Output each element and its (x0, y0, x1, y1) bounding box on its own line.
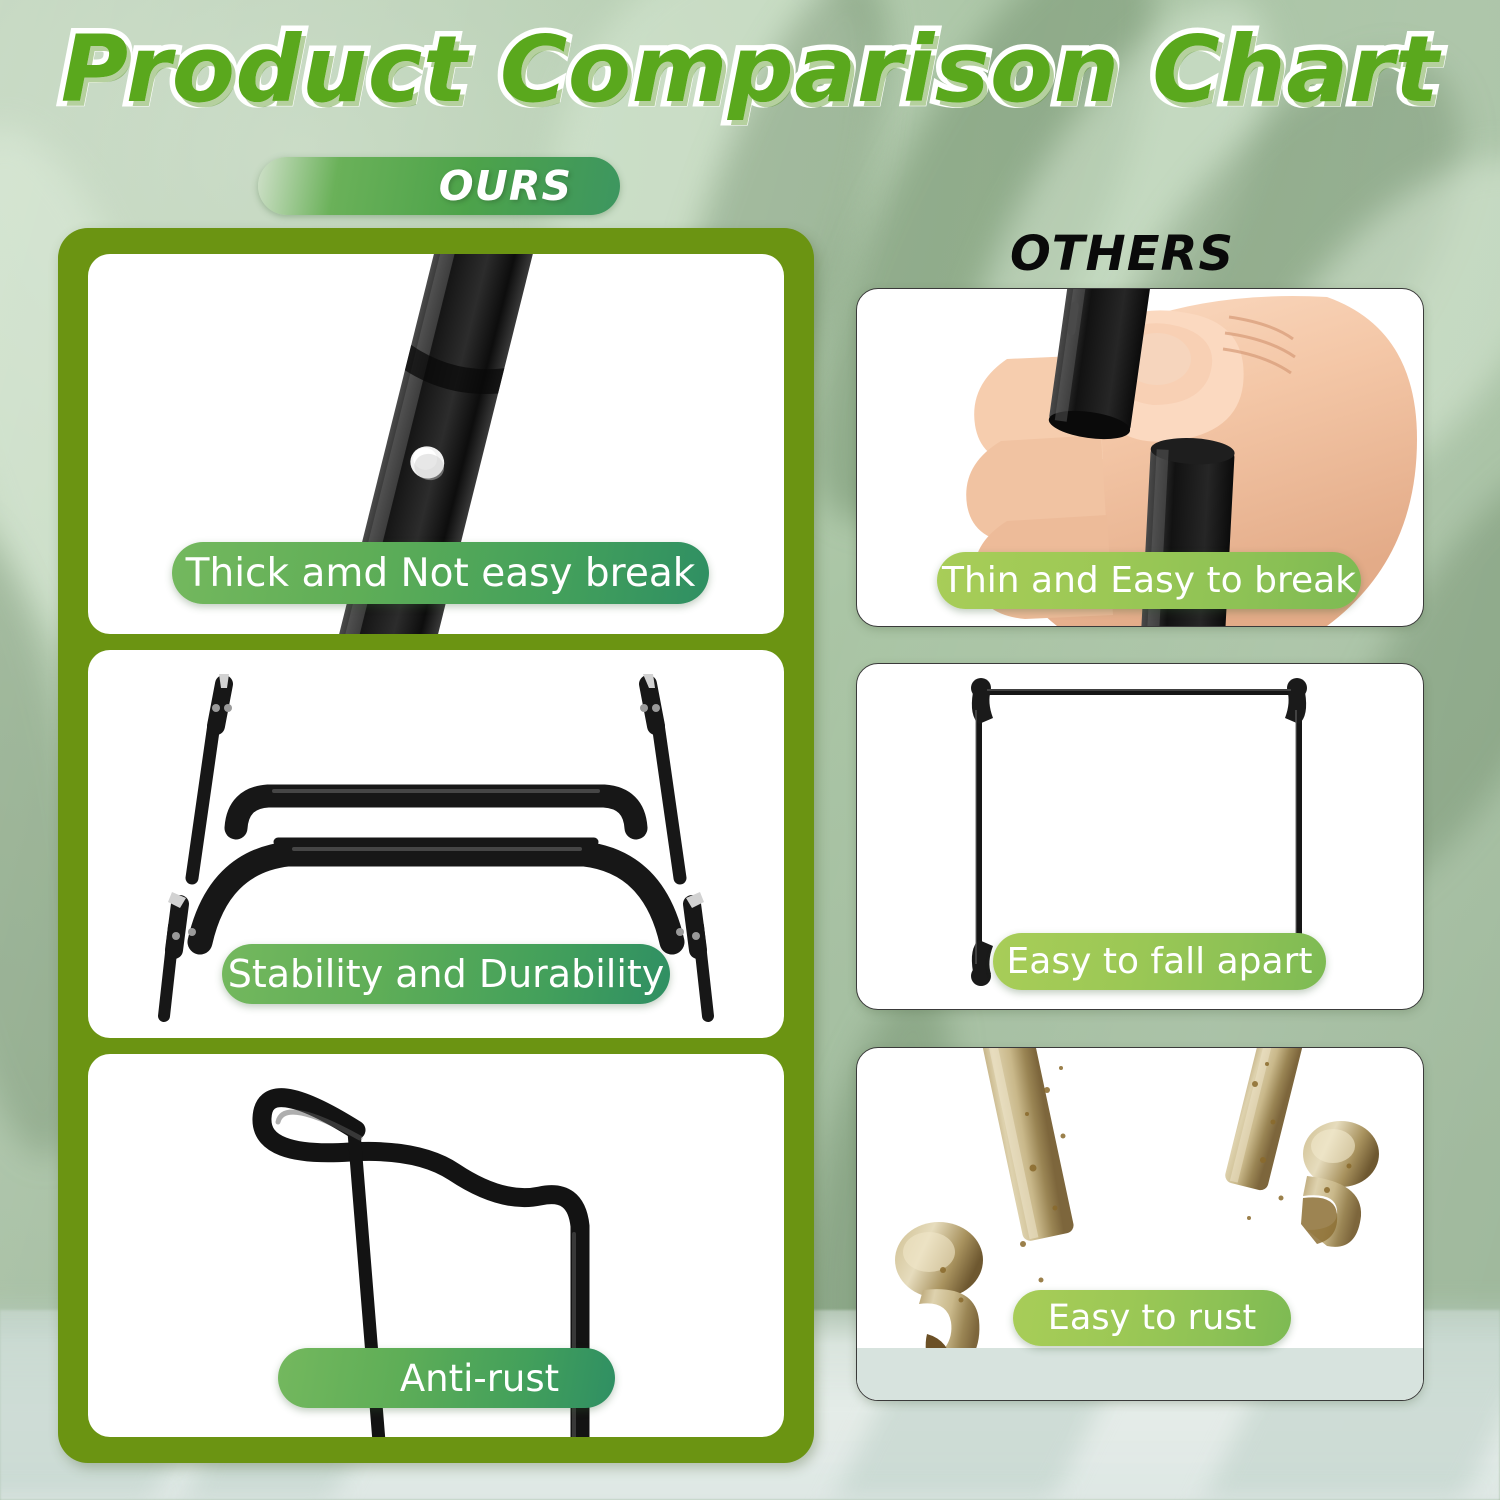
caption-stability-durability: Stability and Durability (222, 944, 670, 1004)
ours-column-header: OURS (258, 157, 620, 215)
caption-thick-not-easy-break: Thick amd Not easy break (172, 542, 709, 604)
caption-anti-rust: Anti-rust (278, 1348, 615, 1408)
caption-text: Easy to fall apart (993, 941, 1326, 982)
caption-easy-fall-apart: Easy to fall apart (993, 933, 1326, 990)
caption-text: Thin and Easy to break (937, 560, 1361, 601)
caption-text: Stability and Durability (222, 952, 670, 996)
comparison-chart-image: Product Comparison Chart OURS OTHERS (0, 0, 1500, 1500)
page-title: Product Comparison Chart (0, 16, 1500, 123)
caption-text: Anti-rust (278, 1357, 615, 1400)
rusted-stakes-image (857, 1048, 1423, 1400)
ours-header-label: OURS (439, 162, 572, 210)
caption-text: Thick amd Not easy break (172, 551, 709, 596)
caption-text: Easy to rust (1013, 1298, 1291, 1338)
caption-thin-easy-break: Thin and Easy to break (937, 552, 1361, 609)
ours-column-frame (58, 228, 814, 1463)
others-panel-rust (856, 1047, 1424, 1401)
others-column-header: OTHERS (1010, 226, 1234, 282)
caption-easy-to-rust: Easy to rust (1013, 1290, 1291, 1346)
